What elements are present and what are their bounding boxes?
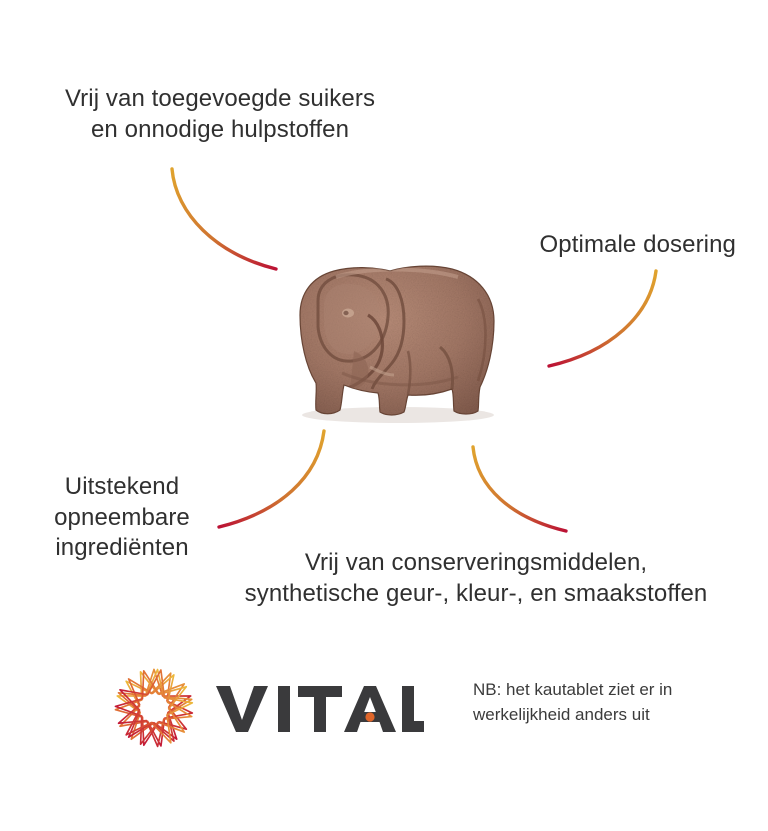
star-center-hole bbox=[144, 698, 164, 718]
connector-arc-sugars bbox=[172, 169, 276, 269]
vitals-wordmark-text bbox=[214, 680, 424, 736]
callout-label-preservatives: Vrij van conserveringsmiddelen, syntheti… bbox=[196, 548, 756, 609]
connector-arc-dosage bbox=[549, 271, 656, 366]
elephant-tablet-illustration bbox=[282, 255, 510, 425]
callout-label-sugars: Vrij van toegevoegde suikers en onnodige… bbox=[40, 84, 400, 145]
infographic-canvas: Vrij van toegevoegde suikers en onnodige… bbox=[0, 0, 768, 831]
wordmark-accent-dot bbox=[365, 712, 374, 721]
disclaimer-note: NB: het kautablet ziet er in werkelijkhe… bbox=[473, 678, 753, 727]
vitals-wordmark bbox=[214, 680, 424, 736]
vitals-star-icon bbox=[108, 662, 200, 754]
product-image-elephant-tablet bbox=[282, 255, 510, 425]
connector-arc-preservatives bbox=[473, 447, 566, 531]
brand-logo bbox=[108, 660, 408, 756]
star-mandala-icon bbox=[108, 662, 200, 754]
